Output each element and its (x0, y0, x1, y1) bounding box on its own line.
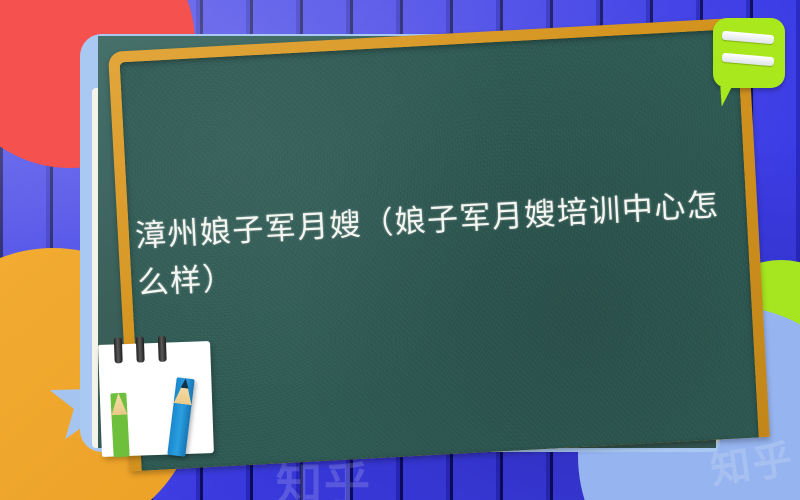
pencil-lead-tip (176, 377, 195, 389)
notebook-ring (158, 336, 167, 362)
green-pencil-icon (110, 393, 129, 458)
chalkboard-slate-surface: 漳州娘子军月嫂（娘子军月嫂培训中心怎么样） (120, 29, 759, 471)
poster-canvas: 知乎 知乎 漳州娘子军月嫂（娘子军月嫂培训中心怎么样） (0, 0, 800, 500)
notebook-ring (136, 336, 145, 362)
speech-bubble-icon (713, 18, 785, 88)
speech-bubble-line-1 (722, 31, 775, 44)
pencil-wood-tip (110, 393, 127, 416)
notebook-ring (114, 337, 123, 363)
speech-bubble-line-2 (722, 53, 775, 66)
